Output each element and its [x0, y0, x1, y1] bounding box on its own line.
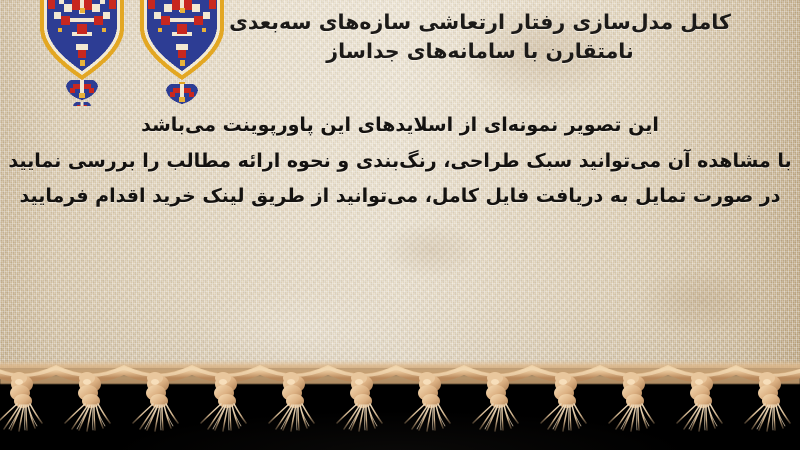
carpet-fringe	[0, 360, 800, 450]
slide-title-line-1: کامل مدل‌سازی رفتار ارتعاشی سازه‌های سه‌…	[229, 10, 731, 34]
slide-title-line-2: نامتقارن با سامانه‌های جداساز	[160, 37, 800, 66]
slide-body: این تصویر نمونه‌ای از اسلایدهای این پاور…	[0, 108, 800, 215]
body-line-1: این تصویر نمونه‌ای از اسلایدهای این پاور…	[0, 108, 800, 144]
tassel-group	[0, 372, 790, 431]
body-line-2: با مشاهده آن می‌توانید سبک طراحی، رنگ‌بن…	[0, 144, 800, 180]
slide-text-layer: کامل مدل‌سازی رفتار ارتعاشی سازه‌های سه‌…	[0, 0, 800, 380]
body-line-3: در صورت تمایل به دریافت فایل کامل، می‌تو…	[0, 179, 800, 215]
slide-title: کامل مدل‌سازی رفتار ارتعاشی سازه‌های سه‌…	[160, 8, 800, 66]
slide-canvas: کامل مدل‌سازی رفتار ارتعاشی سازه‌های سه‌…	[0, 0, 800, 450]
